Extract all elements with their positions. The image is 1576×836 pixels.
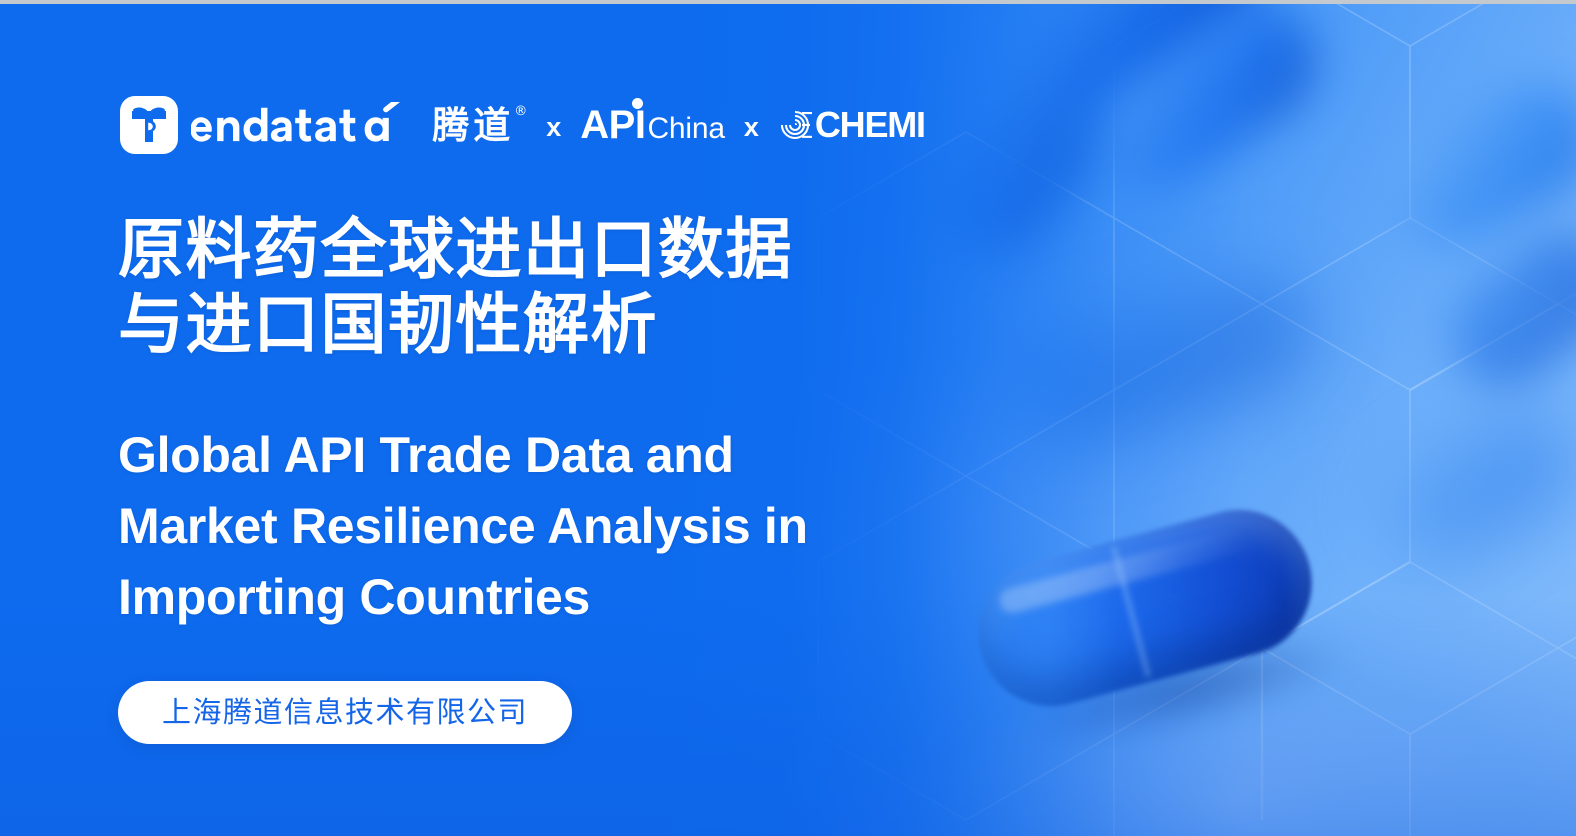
page-title-chinese-line-2: 与进口国韧性解析	[118, 287, 793, 362]
page-subtitle-english: Global API Trade Data and Market Resilie…	[118, 420, 878, 633]
registered-trademark-icon: ®	[514, 105, 527, 118]
tendata-chinese-name: 腾道 ®	[432, 107, 527, 144]
apichina-api-label: API	[580, 103, 645, 147]
tendata-wordmark	[191, 102, 419, 148]
apichina-api-text: API	[580, 105, 645, 145]
logo-separator-1: x	[546, 114, 561, 141]
tendata-logo[interactable]: 腾道 ®	[120, 96, 527, 154]
echemi-logo[interactable]: CHEMI	[778, 107, 925, 143]
partner-logo-bar: 腾道 ® x API China x	[120, 94, 925, 156]
tendata-chinese-text: 腾道	[432, 104, 514, 147]
slide-content: 腾道 ® x API China x	[0, 0, 1576, 836]
apichina-logo[interactable]: API China	[580, 105, 725, 145]
apichina-china-text: China	[647, 114, 724, 144]
top-edge-strip	[0, 0, 1576, 4]
presentation-cover-slide: 腾道 ® x API China x	[0, 0, 1576, 836]
page-title-chinese-line-1: 原料药全球进出口数据	[118, 212, 793, 287]
tendata-sprout-t-icon	[120, 96, 178, 154]
echemi-fingerprint-icon	[778, 108, 812, 142]
page-title-chinese: 原料药全球进出口数据 与进口国韧性解析	[118, 212, 793, 362]
company-name-badge: 上海腾道信息技术有限公司	[118, 681, 572, 744]
logo-separator-2: x	[744, 114, 759, 141]
echemi-wordmark: CHEMI	[815, 107, 925, 143]
company-name-text: 上海腾道信息技术有限公司	[162, 695, 528, 729]
